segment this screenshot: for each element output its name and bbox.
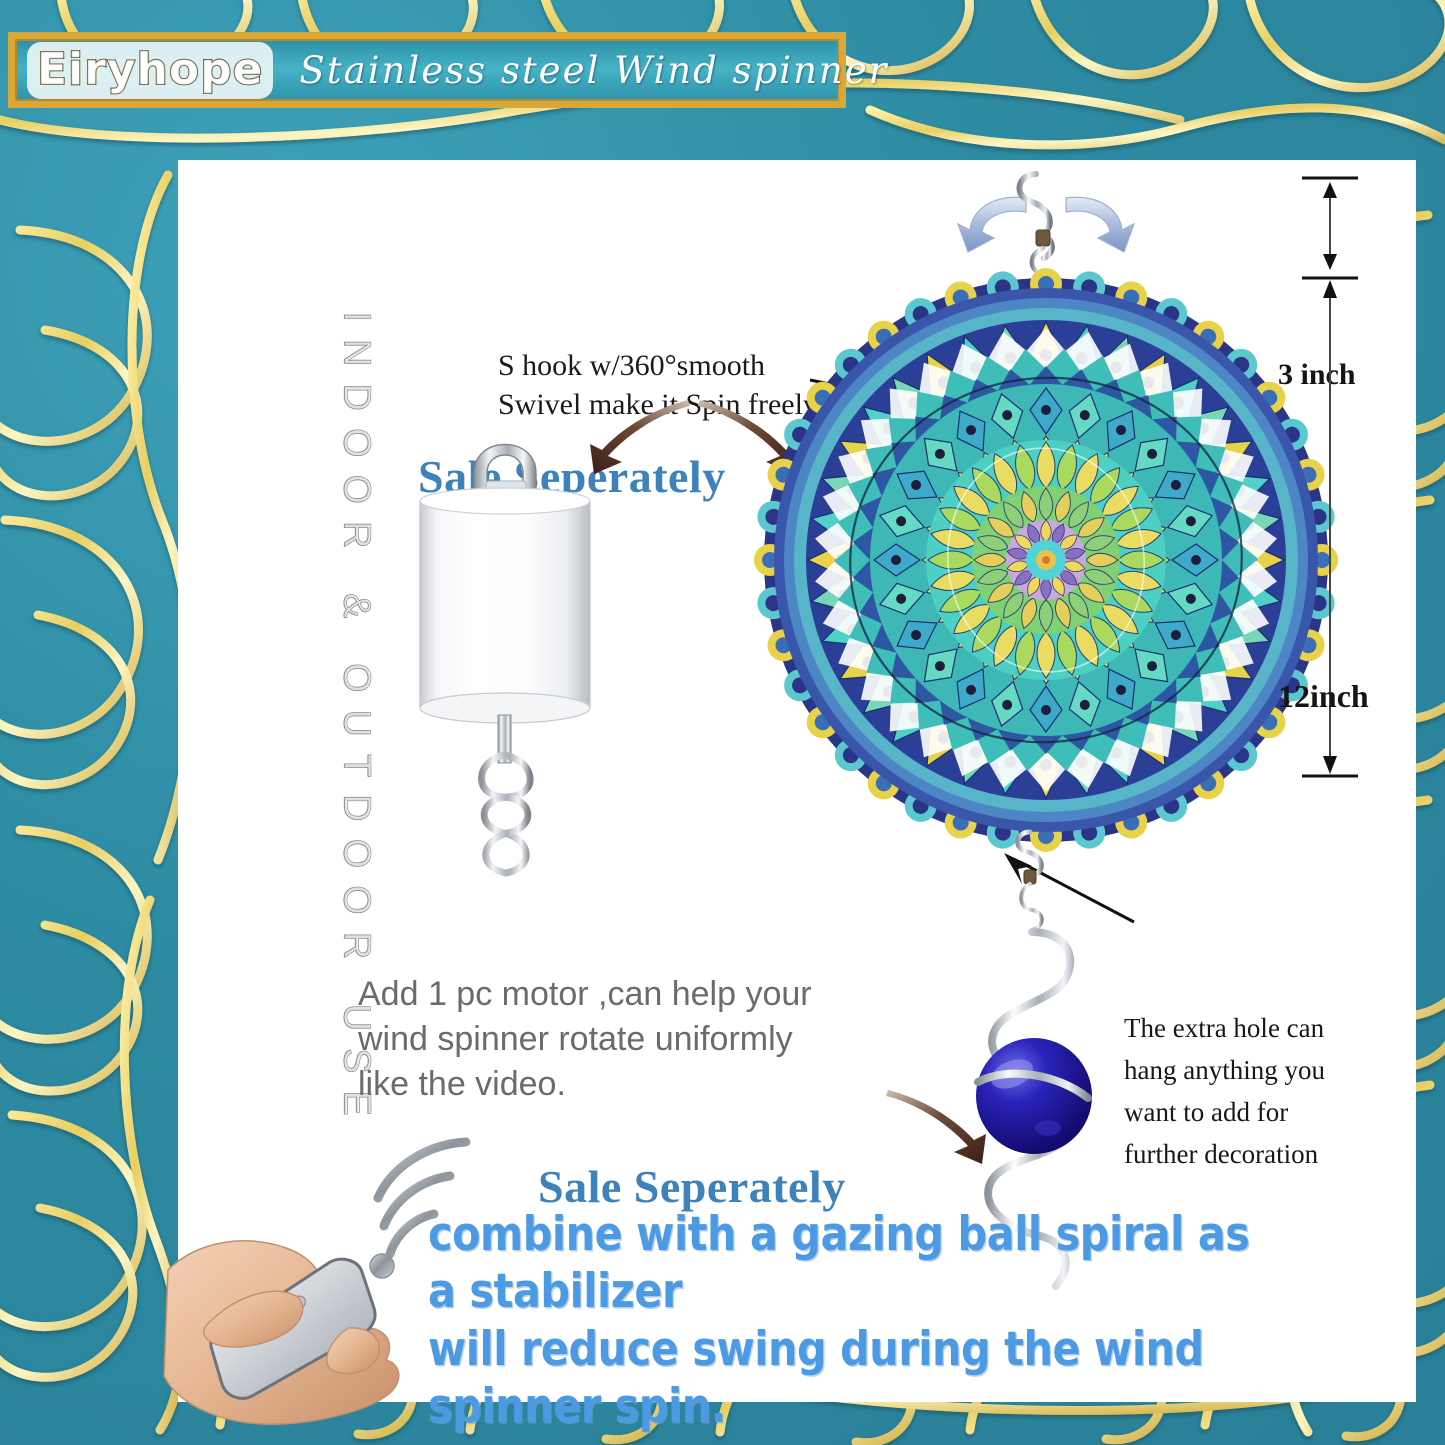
motor-cylinder-icon — [390, 415, 620, 815]
motor-note-line2: wind spinner rotate uniformly — [358, 1017, 878, 1062]
dimension-label-12inch: 12inch — [1278, 678, 1369, 715]
extra-hole-line4: further decoration — [1124, 1134, 1384, 1176]
extra-hole-line3: want to add for — [1124, 1092, 1384, 1134]
brand-logo-text: Eiryhope — [37, 44, 263, 95]
brand-tagline: Stainless steel Wind spinner — [299, 49, 888, 92]
content-panel: INDOOR & OUTDOOR USE S hook w/360°smooth… — [178, 160, 1416, 1402]
rotation-arrow-left-icon — [958, 197, 1026, 252]
motor-note: Add 1 pc motor ,can help your wind spinn… — [358, 972, 878, 1108]
extra-hole-note: The extra hole can hang anything you wan… — [1124, 1008, 1384, 1175]
bottom-banner-text: combine with a gazing ball spiral as a s… — [428, 1206, 1290, 1435]
rotation-arrow-right-icon — [1066, 197, 1134, 252]
brand-logo: Eiryhope — [27, 42, 273, 99]
extra-hole-line2: hang anything you — [1124, 1050, 1384, 1092]
curved-arrow-down-right-icon — [878, 1090, 998, 1170]
mandala-wind-spinner-icon — [756, 270, 1336, 850]
motor-note-line3: like the video. — [358, 1062, 878, 1107]
product-infographic: Eiryhope Stainless steel Wind spinner IN… — [0, 0, 1445, 1445]
extra-hole-line1: The extra hole can — [1124, 1008, 1384, 1050]
brand-banner: Eiryhope Stainless steel Wind spinner — [8, 32, 846, 108]
indoor-outdoor-label: INDOOR & OUTDOOR USE — [335, 312, 378, 892]
bottom-banner-line1: combine with a gazing ball spiral as a s… — [428, 1206, 1290, 1321]
motor-note-line1: Add 1 pc motor ,can help your — [358, 972, 878, 1017]
bottom-banner-line2: will reduce swing during the wind spinne… — [428, 1321, 1290, 1436]
dimension-line-3inch — [1288, 170, 1388, 280]
